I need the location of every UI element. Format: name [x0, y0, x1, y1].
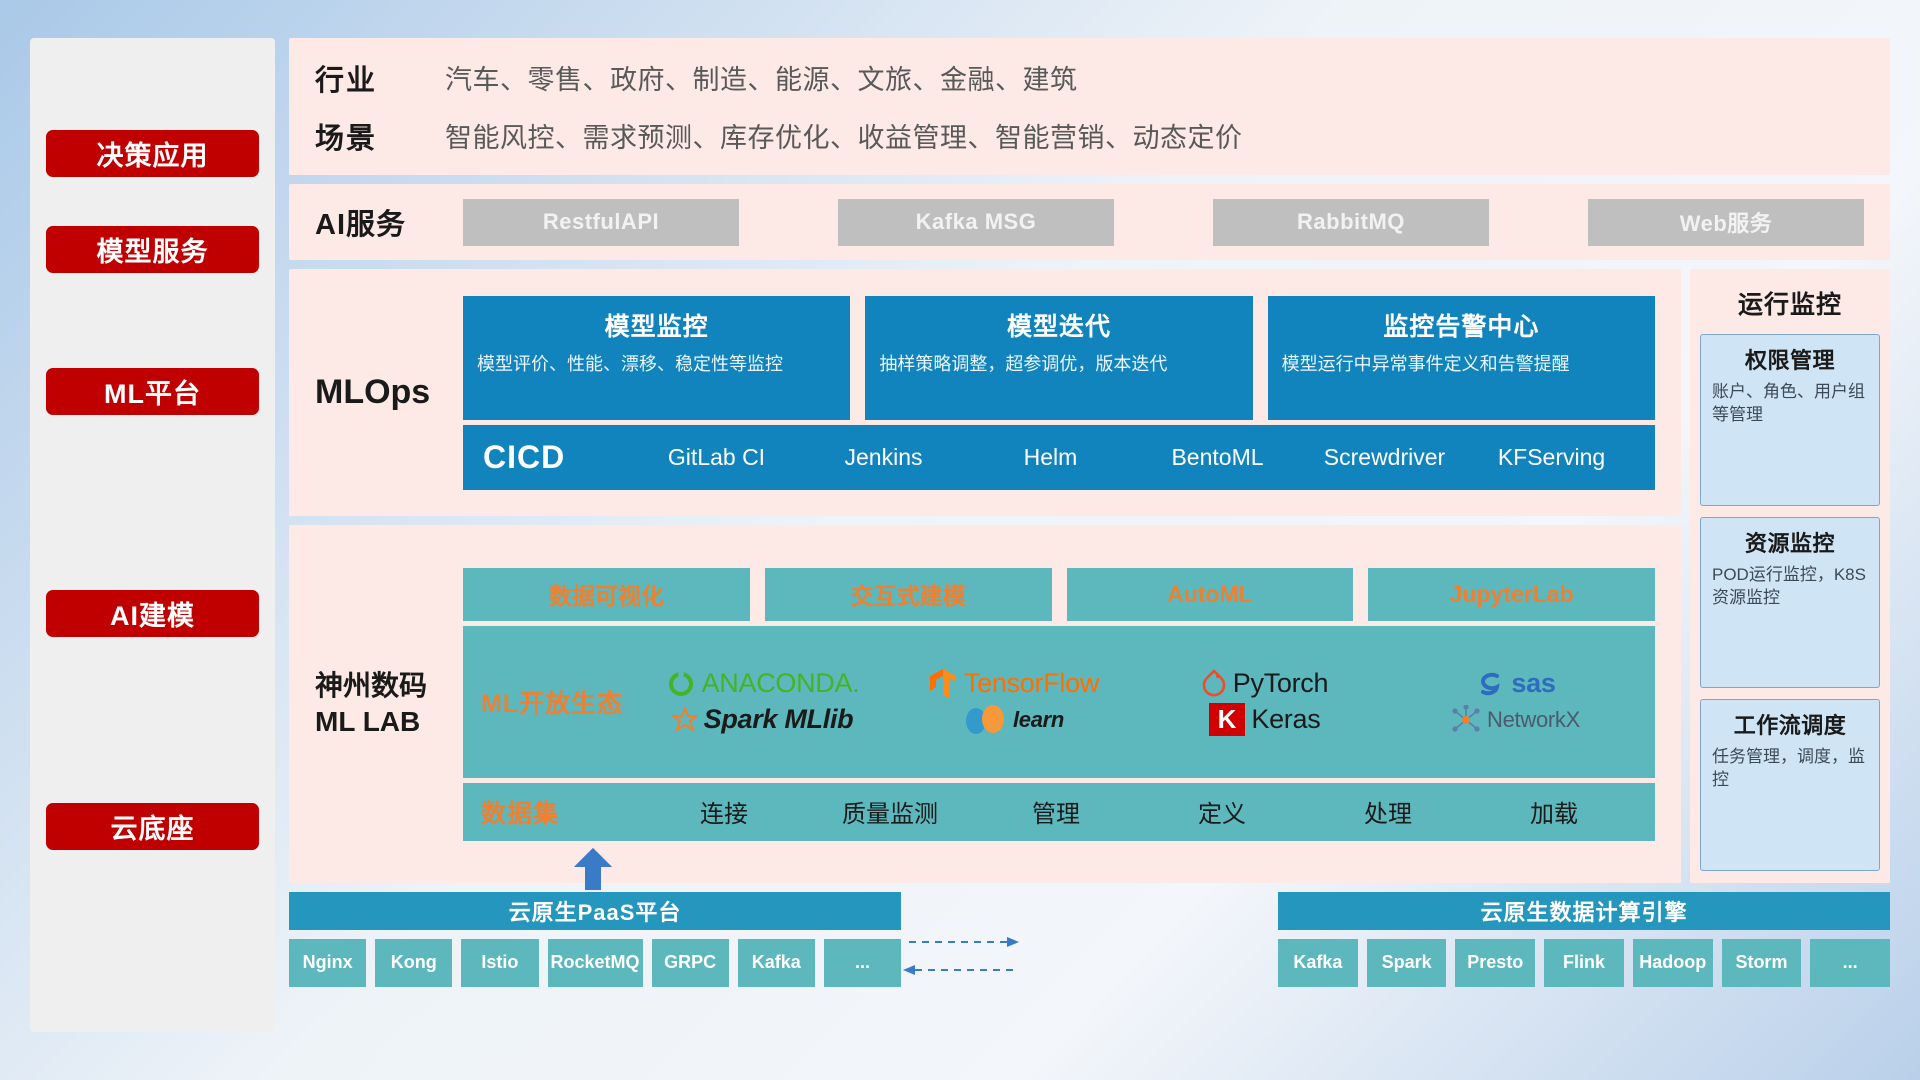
- cloud-paas-chips: Nginx Kong Istio RocketMQ GRPC Kafka ...: [289, 939, 901, 987]
- pytorch-logo-text: PyTorch: [1233, 668, 1328, 699]
- cicd-item-gitlab-ci[interactable]: GitLab CI: [633, 444, 800, 470]
- scenario-values: 智能风控、需求预测、库存优化、收益管理、智能营销、动态定价: [445, 116, 1243, 155]
- rail-item-model-service[interactable]: 模型服务: [46, 226, 259, 273]
- ml-lab-tools: 数据可视化 交互式建模 AutoML JupyterLab: [463, 568, 1655, 621]
- card-desc: 账户、角色、用户组等管理: [1712, 381, 1868, 427]
- industry-values: 汽车、零售、政府、制造、能源、文旅、金融、建筑: [445, 58, 1078, 97]
- monitor-card-permissions[interactable]: 权限管理 账户、角色、用户组等管理: [1700, 334, 1880, 506]
- lab-tool-data-visualization[interactable]: 数据可视化: [463, 568, 750, 621]
- architecture-diagram: 决策应用 模型服务 ML平台 AI建模 云底座 行业 汽车、零售、政府、制造、能…: [0, 0, 1920, 1080]
- industry-row: 行业 汽车、零售、政府、制造、能源、文旅、金融、建筑: [315, 57, 1864, 99]
- networkx-logo: NetworkX: [1451, 705, 1580, 735]
- scikit-learn-icon: [963, 704, 1007, 736]
- service-chip-kafka-msg[interactable]: Kafka MSG: [838, 199, 1114, 246]
- cicd-items: GitLab CI Jenkins Helm BentoML Screwdriv…: [633, 444, 1635, 470]
- dataset-item-connect[interactable]: 连接: [641, 794, 807, 829]
- tensorflow-icon: [928, 667, 958, 701]
- cloud-chip-kafka[interactable]: Kafka: [738, 939, 815, 987]
- platform-column: MLOps 模型监控 模型评价、性能、漂移、稳定性等监控 模型迭代 抽样策略调整…: [289, 269, 1681, 883]
- sas-logo: sas: [1475, 668, 1555, 699]
- mlops-cards: 模型监控 模型评价、性能、漂移、稳定性等监控 模型迭代 抽样策略调整，超参调优，…: [463, 296, 1655, 420]
- rail-label: 云底座: [111, 807, 195, 846]
- cloud-paas-bar: 云原生PaaS平台: [289, 892, 901, 930]
- ml-ecosystem-label: ML开放生态: [481, 684, 641, 720]
- card-desc: 模型运行中异常事件定义和告警提醒: [1282, 352, 1641, 376]
- mlops-card-model-iteration[interactable]: 模型迭代 抽样策略调整，超参调优，版本迭代: [865, 296, 1252, 420]
- pytorch-icon: [1201, 668, 1227, 700]
- keras-logo: K Keras: [1209, 703, 1321, 736]
- lab-tool-automl[interactable]: AutoML: [1067, 568, 1354, 621]
- pytorch-logo: PyTorch: [1201, 668, 1328, 700]
- keras-k-icon: K: [1209, 703, 1246, 736]
- card-title: 模型迭代: [879, 307, 1238, 343]
- service-chip-restfulapi[interactable]: RestfulAPI: [463, 199, 739, 246]
- scenario-row: 场景 智能风控、需求预测、库存优化、收益管理、智能营销、动态定价: [315, 115, 1864, 157]
- cloud-chip-kong[interactable]: Kong: [375, 939, 452, 987]
- cicd-item-kfserving[interactable]: KFServing: [1468, 444, 1635, 470]
- mlops-label: MLOps: [315, 373, 445, 412]
- cloud-foundation: 云原生PaaS平台 Nginx Kong Istio RocketMQ GRPC…: [289, 892, 1890, 1032]
- cloud-chip-rocketmq[interactable]: RocketMQ: [548, 939, 643, 987]
- cicd-item-screwdriver[interactable]: Screwdriver: [1301, 444, 1468, 470]
- rail-item-decision-apps[interactable]: 决策应用: [46, 130, 259, 177]
- ai-services-label: AI服务: [315, 201, 445, 243]
- dataset-item-define[interactable]: 定义: [1139, 794, 1305, 829]
- cicd-label: CICD: [483, 439, 633, 476]
- dataset-item-quality[interactable]: 质量监测: [807, 794, 973, 829]
- compute-chip-flink[interactable]: Flink: [1544, 939, 1624, 987]
- ml-lab-body: 数据可视化 交互式建模 AutoML JupyterLab ML开放生态: [445, 568, 1655, 841]
- compute-chip-more[interactable]: ...: [1810, 939, 1890, 987]
- card-title: 资源监控: [1712, 526, 1868, 558]
- ml-lab-label-line2: ML LAB: [315, 704, 445, 740]
- cloud-link-arrows: [901, 892, 1278, 1032]
- sas-icon: [1475, 669, 1505, 699]
- cicd-item-bentoml[interactable]: BentoML: [1134, 444, 1301, 470]
- anaconda-logo-text: ANACONDA.: [702, 668, 860, 699]
- cloud-compute-bar: 云原生数据计算引擎: [1278, 892, 1890, 930]
- compute-chip-hadoop[interactable]: Hadoop: [1633, 939, 1713, 987]
- compute-chip-presto[interactable]: Presto: [1455, 939, 1535, 987]
- dataset-label: 数据集: [481, 794, 641, 830]
- scenario-label: 场景: [315, 115, 445, 157]
- runtime-monitor-title: 运行监控: [1700, 285, 1880, 321]
- card-title: 工作流调度: [1712, 708, 1868, 740]
- dataset-item-manage[interactable]: 管理: [973, 794, 1139, 829]
- decision-apps-band: 行业 汽车、零售、政府、制造、能源、文旅、金融、建筑 场景 智能风控、需求预测、…: [289, 38, 1890, 175]
- cloud-compute-chips: Kafka Spark Presto Flink Hadoop Storm ..…: [1278, 939, 1890, 987]
- card-desc: 抽样策略调整，超参调优，版本迭代: [879, 352, 1238, 376]
- monitor-card-workflow[interactable]: 工作流调度 任务管理，调度，监控: [1700, 699, 1880, 871]
- rail-label: AI建模: [110, 594, 195, 633]
- mlops-card-model-monitoring[interactable]: 模型监控 模型评价、性能、漂移、稳定性等监控: [463, 296, 850, 420]
- dataset-item-process[interactable]: 处理: [1305, 794, 1471, 829]
- rail-label: 决策应用: [97, 134, 209, 173]
- spark-star-icon: [672, 707, 698, 733]
- rail-item-cloud-base[interactable]: 云底座: [46, 803, 259, 850]
- dataset-items: 连接 质量监测 管理 定义 处理 加载: [641, 794, 1637, 829]
- card-desc: 任务管理，调度，监控: [1712, 746, 1868, 792]
- cloud-chip-grpc[interactable]: GRPC: [652, 939, 729, 987]
- scikit-learn-logo-text: learn: [1013, 707, 1064, 733]
- cicd-bar: CICD GitLab CI Jenkins Helm BentoML Scre…: [463, 425, 1655, 490]
- ml-lab-label-line1: 神州数码: [315, 668, 445, 704]
- ml-ecosystem-row: ML开放生态 ANACONDA.: [463, 626, 1655, 778]
- cloud-paas-group: 云原生PaaS平台 Nginx Kong Istio RocketMQ GRPC…: [289, 892, 901, 1032]
- networkx-logo-text: NetworkX: [1487, 707, 1580, 733]
- cicd-item-jenkins[interactable]: Jenkins: [800, 444, 967, 470]
- networkx-icon: [1451, 705, 1481, 735]
- runtime-monitor-column: 运行监控 权限管理 账户、角色、用户组等管理 资源监控 POD运行监控，K8S资…: [1690, 269, 1890, 883]
- card-title: 监控告警中心: [1282, 307, 1641, 343]
- compute-chip-storm[interactable]: Storm: [1722, 939, 1802, 987]
- dataset-row: 数据集 连接 质量监测 管理 定义 处理 加载: [463, 783, 1655, 841]
- ai-services-band: AI服务 RestfulAPI Kafka MSG RabbitMQ Web服务: [289, 184, 1890, 260]
- cicd-item-helm[interactable]: Helm: [967, 444, 1134, 470]
- anaconda-logo: ANACONDA.: [666, 668, 860, 699]
- mlops-body: 模型监控 模型评价、性能、漂移、稳定性等监控 模型迭代 抽样策略调整，超参调优，…: [445, 296, 1655, 490]
- rail-label: 模型服务: [97, 230, 209, 269]
- anaconda-icon: [666, 669, 696, 699]
- bidirectional-dashed-arrows-icon: [901, 926, 1021, 986]
- cloud-compute-group: 云原生数据计算引擎 Kafka Spark Presto Flink Hadoo…: [1278, 892, 1890, 1032]
- card-title: 模型监控: [477, 307, 836, 343]
- lab-tool-jupyterlab[interactable]: JupyterLab: [1368, 568, 1655, 621]
- card-desc: 模型评价、性能、漂移、稳定性等监控: [477, 352, 836, 376]
- card-title: 权限管理: [1712, 343, 1868, 375]
- ml-lab-band: 神州数码 ML LAB 数据可视化 交互式建模 AutoML JupyterLa…: [289, 525, 1681, 883]
- cloud-chip-more[interactable]: ...: [824, 939, 901, 987]
- spark-mllib-logo-text: Spark MLlib: [704, 704, 854, 735]
- service-chip-rabbitmq[interactable]: RabbitMQ: [1213, 199, 1489, 246]
- platform-and-monitor: MLOps 模型监控 模型评价、性能、漂移、稳定性等监控 模型迭代 抽样策略调整…: [289, 269, 1890, 883]
- tensorflow-logo: TensorFlow: [928, 667, 1099, 701]
- cloud-chip-istio[interactable]: Istio: [461, 939, 538, 987]
- mlops-card-alert-center[interactable]: 监控告警中心 模型运行中异常事件定义和告警提醒: [1268, 296, 1655, 420]
- layer-rail: 决策应用 模型服务 ML平台 AI建模 云底座: [30, 38, 275, 1032]
- ai-services-chips: RestfulAPI Kafka MSG RabbitMQ Web服务: [445, 199, 1864, 246]
- tensorflow-logo-text: TensorFlow: [964, 668, 1099, 699]
- scikit-learn-logo: learn: [963, 704, 1064, 736]
- compute-chip-kafka[interactable]: Kafka: [1278, 939, 1358, 987]
- service-chip-web[interactable]: Web服务: [1588, 199, 1864, 246]
- sas-logo-text: sas: [1511, 668, 1555, 699]
- keras-logo-text: Keras: [1251, 704, 1320, 735]
- compute-chip-spark[interactable]: Spark: [1367, 939, 1447, 987]
- rail-item-ml-platform[interactable]: ML平台: [46, 368, 259, 415]
- cloud-chip-nginx[interactable]: Nginx: [289, 939, 366, 987]
- monitor-card-resources[interactable]: 资源监控 POD运行监控，K8S资源监控: [1700, 517, 1880, 689]
- rail-label: ML平台: [104, 372, 201, 411]
- ml-lab-label: 神州数码 ML LAB: [315, 668, 445, 741]
- spark-mllib-logo: Spark MLlib: [672, 704, 854, 735]
- card-desc: POD运行监控，K8S资源监控: [1712, 564, 1868, 610]
- mlops-band: MLOps 模型监控 模型评价、性能、漂移、稳定性等监控 模型迭代 抽样策略调整…: [289, 269, 1681, 516]
- dataset-item-load[interactable]: 加载: [1471, 794, 1637, 829]
- main-column: 行业 汽车、零售、政府、制造、能源、文旅、金融、建筑 场景 智能风控、需求预测、…: [289, 38, 1890, 1032]
- lab-tool-interactive-modeling[interactable]: 交互式建模: [765, 568, 1052, 621]
- rail-item-ai-modeling[interactable]: AI建模: [46, 590, 259, 637]
- ml-ecosystem-logos: ANACONDA. TensorFlow: [641, 667, 1637, 737]
- industry-label: 行业: [315, 57, 445, 99]
- up-arrow-icon-right: [574, 848, 612, 890]
